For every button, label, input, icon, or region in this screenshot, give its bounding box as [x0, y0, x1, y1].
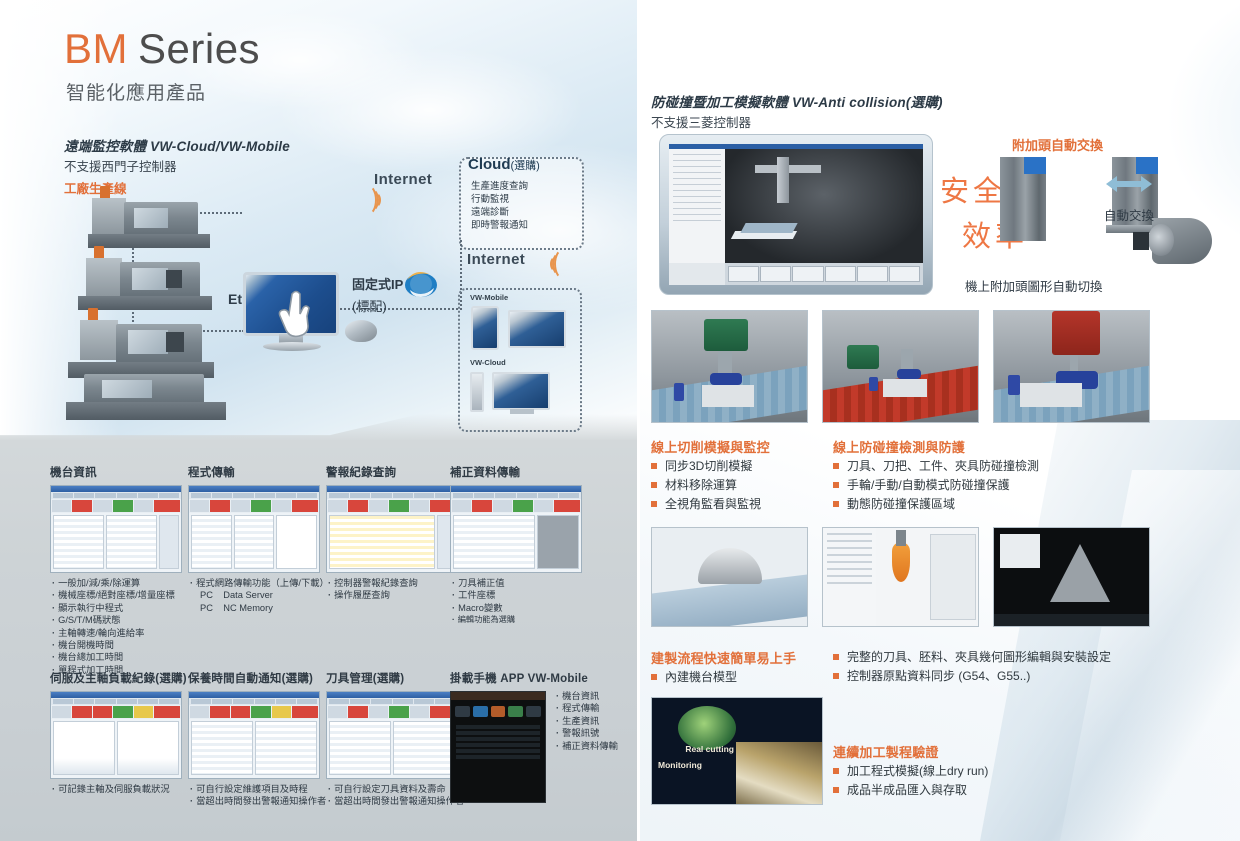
- screenshot-tool-management: [326, 691, 458, 779]
- list-item: 動態防碰撞保護區域: [833, 495, 1039, 514]
- head-caption: 機上附加頭圖形自動切換: [965, 276, 1103, 295]
- list-item: 機台總加工時間: [52, 651, 175, 663]
- list-item: 控制器警報紀錄查詢: [328, 577, 418, 589]
- column-divider: [637, 0, 640, 841]
- panel-title: 程式傳輸: [188, 464, 320, 480]
- list-item: 主軸轉速/輪向進給率: [52, 627, 175, 639]
- screenshot-maintenance-notify: [188, 691, 320, 779]
- cloud-title-suffix: (選購): [511, 160, 540, 172]
- section-title-5: 連續加工製程驗證: [833, 742, 939, 761]
- panel-title: 刀具管理(選購): [326, 670, 404, 686]
- panel-alarm-log: 警報紀錄查詢: [326, 464, 458, 480]
- list-item: 機台開機時間: [52, 639, 175, 651]
- list-item: 內建機台模型: [651, 668, 737, 687]
- list-item: 加工程式模擬(線上dry run): [833, 762, 988, 781]
- cloud-title: Cloud(選購): [468, 156, 540, 173]
- sim-image-1: [651, 310, 808, 423]
- vw-cloud-label: VW-Cloud: [470, 358, 506, 367]
- screenshot-load-record: [50, 691, 182, 779]
- list-item: G/S/T/M碼狀態: [52, 614, 175, 626]
- section-bullets-1: 同步3D切削模擬 材料移除運算 全視角監看與監視: [651, 457, 761, 514]
- panel-mobile-app: 掛載手機 APP VW-Mobile: [450, 670, 588, 686]
- tablet-graphic: [508, 310, 566, 348]
- brand-series: Series: [138, 25, 260, 72]
- bullets-machine-info: 一般加/減/乘/除運算 機械座標/絕對座標/增量座標 顯示執行中程式 G/S/T…: [52, 577, 175, 676]
- simulation-screen: [669, 144, 923, 285]
- internet-explorer-icon: [404, 268, 438, 300]
- section-title-1: 線上切削模擬與監控: [651, 437, 770, 456]
- machine-graphic-2: [70, 244, 230, 314]
- bullets-mobile-app: 機台資訊 程式傳輸 生產資訊 警報訊號 補正資料傳輸: [556, 690, 618, 752]
- list-item: 當超出時間發出警報通知操作者: [190, 795, 326, 807]
- list-item: PC Data Server: [190, 589, 329, 601]
- list-item: 機台資訊: [556, 690, 618, 702]
- sim-image-2: [822, 310, 979, 423]
- bullets-tool-management: 可自行設定刀具資料及壽命 當超出時間發出警報通知操作者: [328, 783, 464, 808]
- machine-graphic-1: [78, 186, 228, 252]
- page-subtitle: 智能化應用產品: [66, 78, 206, 105]
- hand-cursor-icon: [278, 288, 318, 340]
- anticollision-heading: 防碰撞暨加工模擬軟體 VW-Anti collision(選購): [651, 91, 943, 111]
- panel-title: 補正資料傳輸: [450, 464, 582, 480]
- tool-ui-pane: [823, 528, 876, 626]
- list-item: 可自行設定刀具資料及壽命: [328, 783, 464, 795]
- real-cutting-label: Real cutting: [685, 744, 734, 754]
- screenshot-alarm-log: [326, 485, 458, 573]
- remote-heading: 遠端監控軟體 VW-Cloud/VW-Mobile: [64, 135, 290, 155]
- list-item: 即時警報通知: [471, 219, 582, 232]
- list-item: 補正資料傳輸: [556, 740, 618, 752]
- section-bullets-2: 刀具、刀把、工件、夾具防碰撞檢測 手輪/手動/自動模式防碰撞保護 動態防碰撞保護…: [833, 457, 1039, 514]
- panel-title: 警報紀錄查詢: [326, 464, 458, 480]
- angle-head-ring: [1148, 224, 1174, 256]
- list-item: 操作履歷查詢: [328, 589, 418, 601]
- bullets-maintenance-notify: 可自行設定維護項目及時程 當超出時間發出警報通知操作者: [190, 783, 326, 808]
- list-item: 遠端診斷: [471, 206, 582, 219]
- list-item: 程式網路傳輸功能（上傳/下載）: [190, 577, 329, 589]
- list-item: 編輯功能為選購: [452, 614, 515, 626]
- list-item: 手輪/手動/自動模式防碰撞保護: [833, 476, 1039, 495]
- tab-workpiece[interactable]: [857, 266, 888, 282]
- safety-label: 安全: [940, 168, 1006, 210]
- list-item: 行動監視: [471, 193, 582, 206]
- exchange-arrow-icon: [1106, 175, 1152, 193]
- panel-offset-transfer: 補正資料傳輸: [450, 464, 582, 480]
- bullets-offset-transfer: 刀具補正值 工件座標 Macro變數 編輯功能為選購: [452, 577, 515, 627]
- tool-image-2: [822, 527, 979, 627]
- list-item: 同步3D切削模擬: [651, 457, 761, 476]
- head-blue-cap-b: [1136, 157, 1158, 174]
- section-bullets-4: 完整的刀具、胚料、夾具幾何圖形編輯與安裝設定 控制器原點資料同步 (G54、G5…: [833, 648, 1111, 686]
- bullets-alarm-log: 控制器警報紀錄查詢 操作履歷查詢: [328, 577, 418, 602]
- auto-exchange-label: 自動交換: [1104, 205, 1154, 224]
- panel-machine-info: 機台資訊: [50, 464, 182, 480]
- list-item: 生產進度查詢: [471, 180, 582, 193]
- list-item: 生產資訊: [556, 715, 618, 727]
- panel-title: 伺服及主軸負載紀錄(選購): [50, 670, 187, 686]
- section-title-2: 線上防碰撞檢測與防護: [833, 437, 965, 456]
- brand-bm: BM: [64, 25, 128, 72]
- internet-label-bottom: Internet: [467, 251, 525, 268]
- list-item: 材料移除運算: [651, 476, 761, 495]
- section-title-3: 建製流程快速簡單易上手: [651, 648, 796, 667]
- list-item: 成品半成品匯入與存取: [833, 781, 988, 800]
- panel-program-transfer: 程式傳輸: [188, 464, 320, 480]
- cloud-box: Cloud(選購) 生產進度查詢 行動監視 遠端診斷 即時警報通知: [459, 157, 584, 250]
- fixed-ip-label: 固定式IP: [352, 274, 403, 293]
- tab-xspindle[interactable]: [792, 266, 823, 282]
- list-item: 控制器原點資料同步 (G54、G55..): [833, 667, 1111, 686]
- head-blue-cap-a: [1024, 157, 1046, 174]
- panel-tool-management: 刀具管理(選購): [326, 670, 404, 686]
- simulation-tab-bar[interactable]: [725, 263, 923, 285]
- simulation-screen-frame: [659, 134, 933, 295]
- desktop-graphic: [492, 372, 550, 410]
- head-exchange-title: 附加頭自動交換: [1012, 135, 1103, 154]
- angle-head-block: [1133, 232, 1149, 250]
- tool-image-1: [651, 527, 808, 627]
- panel-title: 保養時間自動通知(選購): [188, 670, 313, 686]
- screenshot-program-transfer: [188, 485, 320, 573]
- screenshot-mobile-app: [450, 691, 546, 803]
- list-item: 顯示執行中程式: [52, 602, 175, 614]
- tool-image-3: [993, 527, 1150, 627]
- panel-title: 機台資訊: [50, 464, 182, 480]
- remote-note: 不支援西門子控制器: [64, 156, 177, 175]
- tab-next[interactable]: [889, 266, 920, 282]
- panel-maintenance-notify: 保養時間自動通知(選購): [188, 670, 313, 686]
- sim-image-3: [993, 310, 1150, 423]
- list-item: 工件座標: [452, 589, 515, 601]
- tab-xtable[interactable]: [825, 266, 856, 282]
- list-item: 程式傳輸: [556, 702, 618, 714]
- wifi-arcs-top: [357, 184, 391, 218]
- page-title: BMSeries: [64, 28, 260, 70]
- desktop-stand: [510, 409, 534, 414]
- monitoring-label: Monitoring: [658, 760, 702, 770]
- section-bullets-3: 內建機台模型: [651, 668, 737, 687]
- tab-machine[interactable]: [760, 266, 791, 282]
- list-item: 可記錄主軸及伺服負載狀況: [52, 783, 170, 795]
- anticollision-note: 不支援三菱控制器: [651, 112, 751, 131]
- vw-mobile-label: VW-Mobile: [470, 293, 508, 302]
- list-item: 刀具補正值: [452, 577, 515, 589]
- pc-tower-graphic: [470, 372, 484, 412]
- mouse-graphic: [345, 320, 377, 342]
- list-item: 全視角監看與監視: [651, 495, 761, 514]
- standard-label: (標配): [352, 296, 387, 315]
- phone-graphic: [471, 306, 499, 350]
- wifi-arcs-bottom: [540, 248, 574, 282]
- section-bullets-5: 加工程式模擬(線上dry run) 成品半成品匯入與存取: [833, 762, 988, 800]
- brochure-page: BMSeries 智能化應用產品 遠端監控軟體 VW-Cloud/VW-Mobi…: [0, 0, 1240, 841]
- monitoring-image: Real cutting Monitoring: [651, 697, 823, 805]
- list-item: Macro變數: [452, 602, 515, 614]
- list-item: 警報訊號: [556, 727, 618, 739]
- list-item: PC NC Memory: [190, 602, 329, 614]
- bullets-program-transfer: 程式網路傳輸功能（上傳/下載） PC Data Server PC NC Mem…: [190, 577, 329, 614]
- screenshot-machine-info: [50, 485, 182, 573]
- screenshot-offset-transfer: [450, 485, 582, 573]
- list-item: 刀具、刀把、工件、夾具防碰撞檢測: [833, 457, 1039, 476]
- list-item: 可自行設定維護項目及時程: [190, 783, 326, 795]
- list-item: 機械座標/絕對座標/增量座標: [52, 589, 175, 601]
- panel-title: 掛載手機 APP VW-Mobile: [450, 670, 588, 686]
- list-item: 一般加/減/乘/除運算: [52, 577, 175, 589]
- machine-graphic-4: [62, 368, 240, 428]
- list-item: 完整的刀具、胚料、夾具幾何圖形編輯與安裝設定: [833, 648, 1111, 667]
- panel-load-record: 伺服及主軸負載紀錄(選購): [50, 670, 187, 686]
- bullets-load-record: 可記錄主軸及伺服負載狀況: [52, 783, 170, 795]
- list-item: 當超出時間發出警報通知操作者: [328, 795, 464, 807]
- tab-left-file[interactable]: [728, 266, 759, 282]
